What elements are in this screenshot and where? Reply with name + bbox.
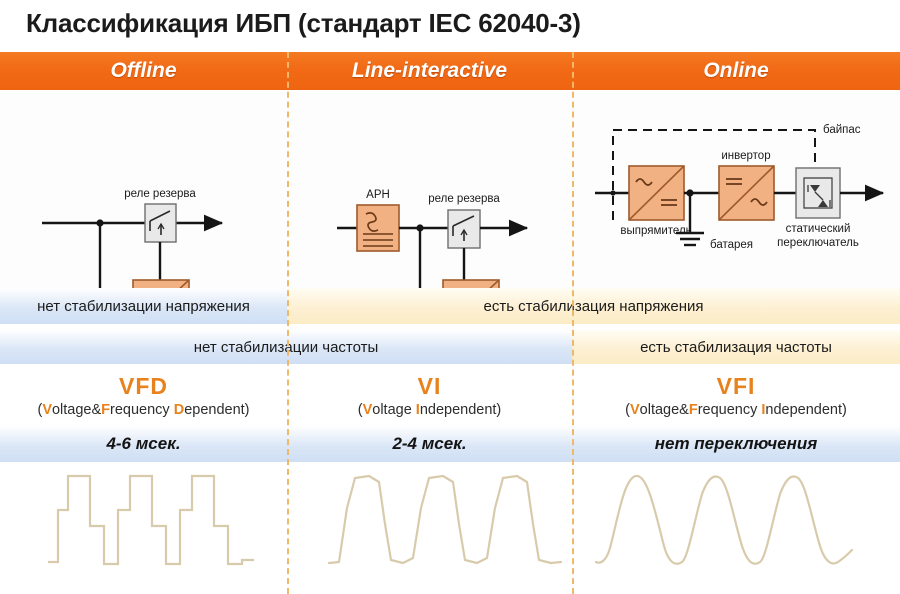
switch-time-band: 4-6 мсек. 2-4 мсек. нет переключения bbox=[0, 426, 900, 462]
class-full-vfi: (Voltage&Frequency Independent) bbox=[625, 402, 847, 418]
label-li-avr: АРН bbox=[366, 189, 390, 201]
class-full-vi: (Voltage Independent) bbox=[358, 402, 502, 418]
voltage-stabilization-band: нет стабилизации напряжения есть стабили… bbox=[0, 288, 900, 324]
label-online-static-switch2: переключатель bbox=[777, 237, 859, 249]
voltage-no-stabilization: нет стабилизации напряжения bbox=[0, 288, 287, 324]
diagram-offline: реле резерва выпрямитель / инвертор бата… bbox=[42, 188, 225, 288]
column-divider-left bbox=[287, 52, 289, 594]
column-header-offline: Offline bbox=[0, 52, 287, 90]
switch-time-line-interactive: 2-4 мсек. bbox=[287, 426, 572, 462]
class-code-vi: VI bbox=[418, 373, 442, 400]
class-full-vfd: (Voltage&Frequency Dependent) bbox=[37, 402, 249, 418]
column-header-line-interactive: Line-interactive bbox=[287, 52, 572, 90]
header-band: Offline Line-interactive Online bbox=[0, 52, 900, 90]
ups-classification-infographic: Классификация ИБП (стандарт IEC 62040-3)… bbox=[0, 0, 900, 594]
waveform-offline-stepped-square bbox=[0, 462, 287, 594]
class-code-vfd: VFD bbox=[119, 373, 168, 400]
switch-time-offline: 4-6 мсек. bbox=[0, 426, 287, 462]
diagram-line-interactive: АРН реле резерва выпрямитель / инвертор … bbox=[337, 189, 527, 288]
label-online-battery: батарея bbox=[710, 239, 753, 251]
waveform-line-interactive-trapezoidal bbox=[287, 462, 572, 594]
label-online-inverter: инвертор bbox=[721, 150, 770, 162]
label-li-relay: реле резерва bbox=[428, 193, 500, 205]
label-online-bypass: байпас bbox=[823, 124, 861, 136]
diagram-online: байпас инвертор выпрямитель батарея стат… bbox=[595, 124, 883, 251]
class-code-vfi: VFI bbox=[717, 373, 756, 400]
class-cell-vfi: VFI (Voltage&Frequency Independent) bbox=[572, 366, 900, 424]
class-code-band: VFD (Voltage&Frequency Dependent) VI (Vo… bbox=[0, 366, 900, 424]
waveform-area bbox=[0, 462, 900, 594]
label-offline-relay: реле резерва bbox=[124, 188, 196, 200]
label-online-rectifier: выпрямитель bbox=[620, 225, 691, 237]
class-cell-vfd: VFD (Voltage&Frequency Dependent) bbox=[0, 366, 287, 424]
frequency-no-stabilization: нет стабилизации частоты bbox=[0, 330, 572, 364]
column-divider-right bbox=[572, 52, 574, 594]
frequency-stabilization-band: нет стабилизации частоты есть стабилизац… bbox=[0, 330, 900, 364]
column-header-online: Online bbox=[572, 52, 900, 90]
page-title: Классификация ИБП (стандарт IEC 62040-3) bbox=[26, 8, 581, 39]
switch-time-online: нет переключения bbox=[572, 426, 900, 462]
label-online-static-switch: статический bbox=[786, 223, 851, 235]
waveform-online-sine bbox=[572, 462, 900, 594]
class-cell-vi: VI (Voltage Independent) bbox=[287, 366, 572, 424]
frequency-has-stabilization: есть стабилизация частоты bbox=[572, 330, 900, 364]
diagram-area: реле резерва выпрямитель / инвертор бата… bbox=[0, 90, 900, 288]
voltage-has-stabilization: есть стабилизация напряжения bbox=[287, 288, 900, 324]
